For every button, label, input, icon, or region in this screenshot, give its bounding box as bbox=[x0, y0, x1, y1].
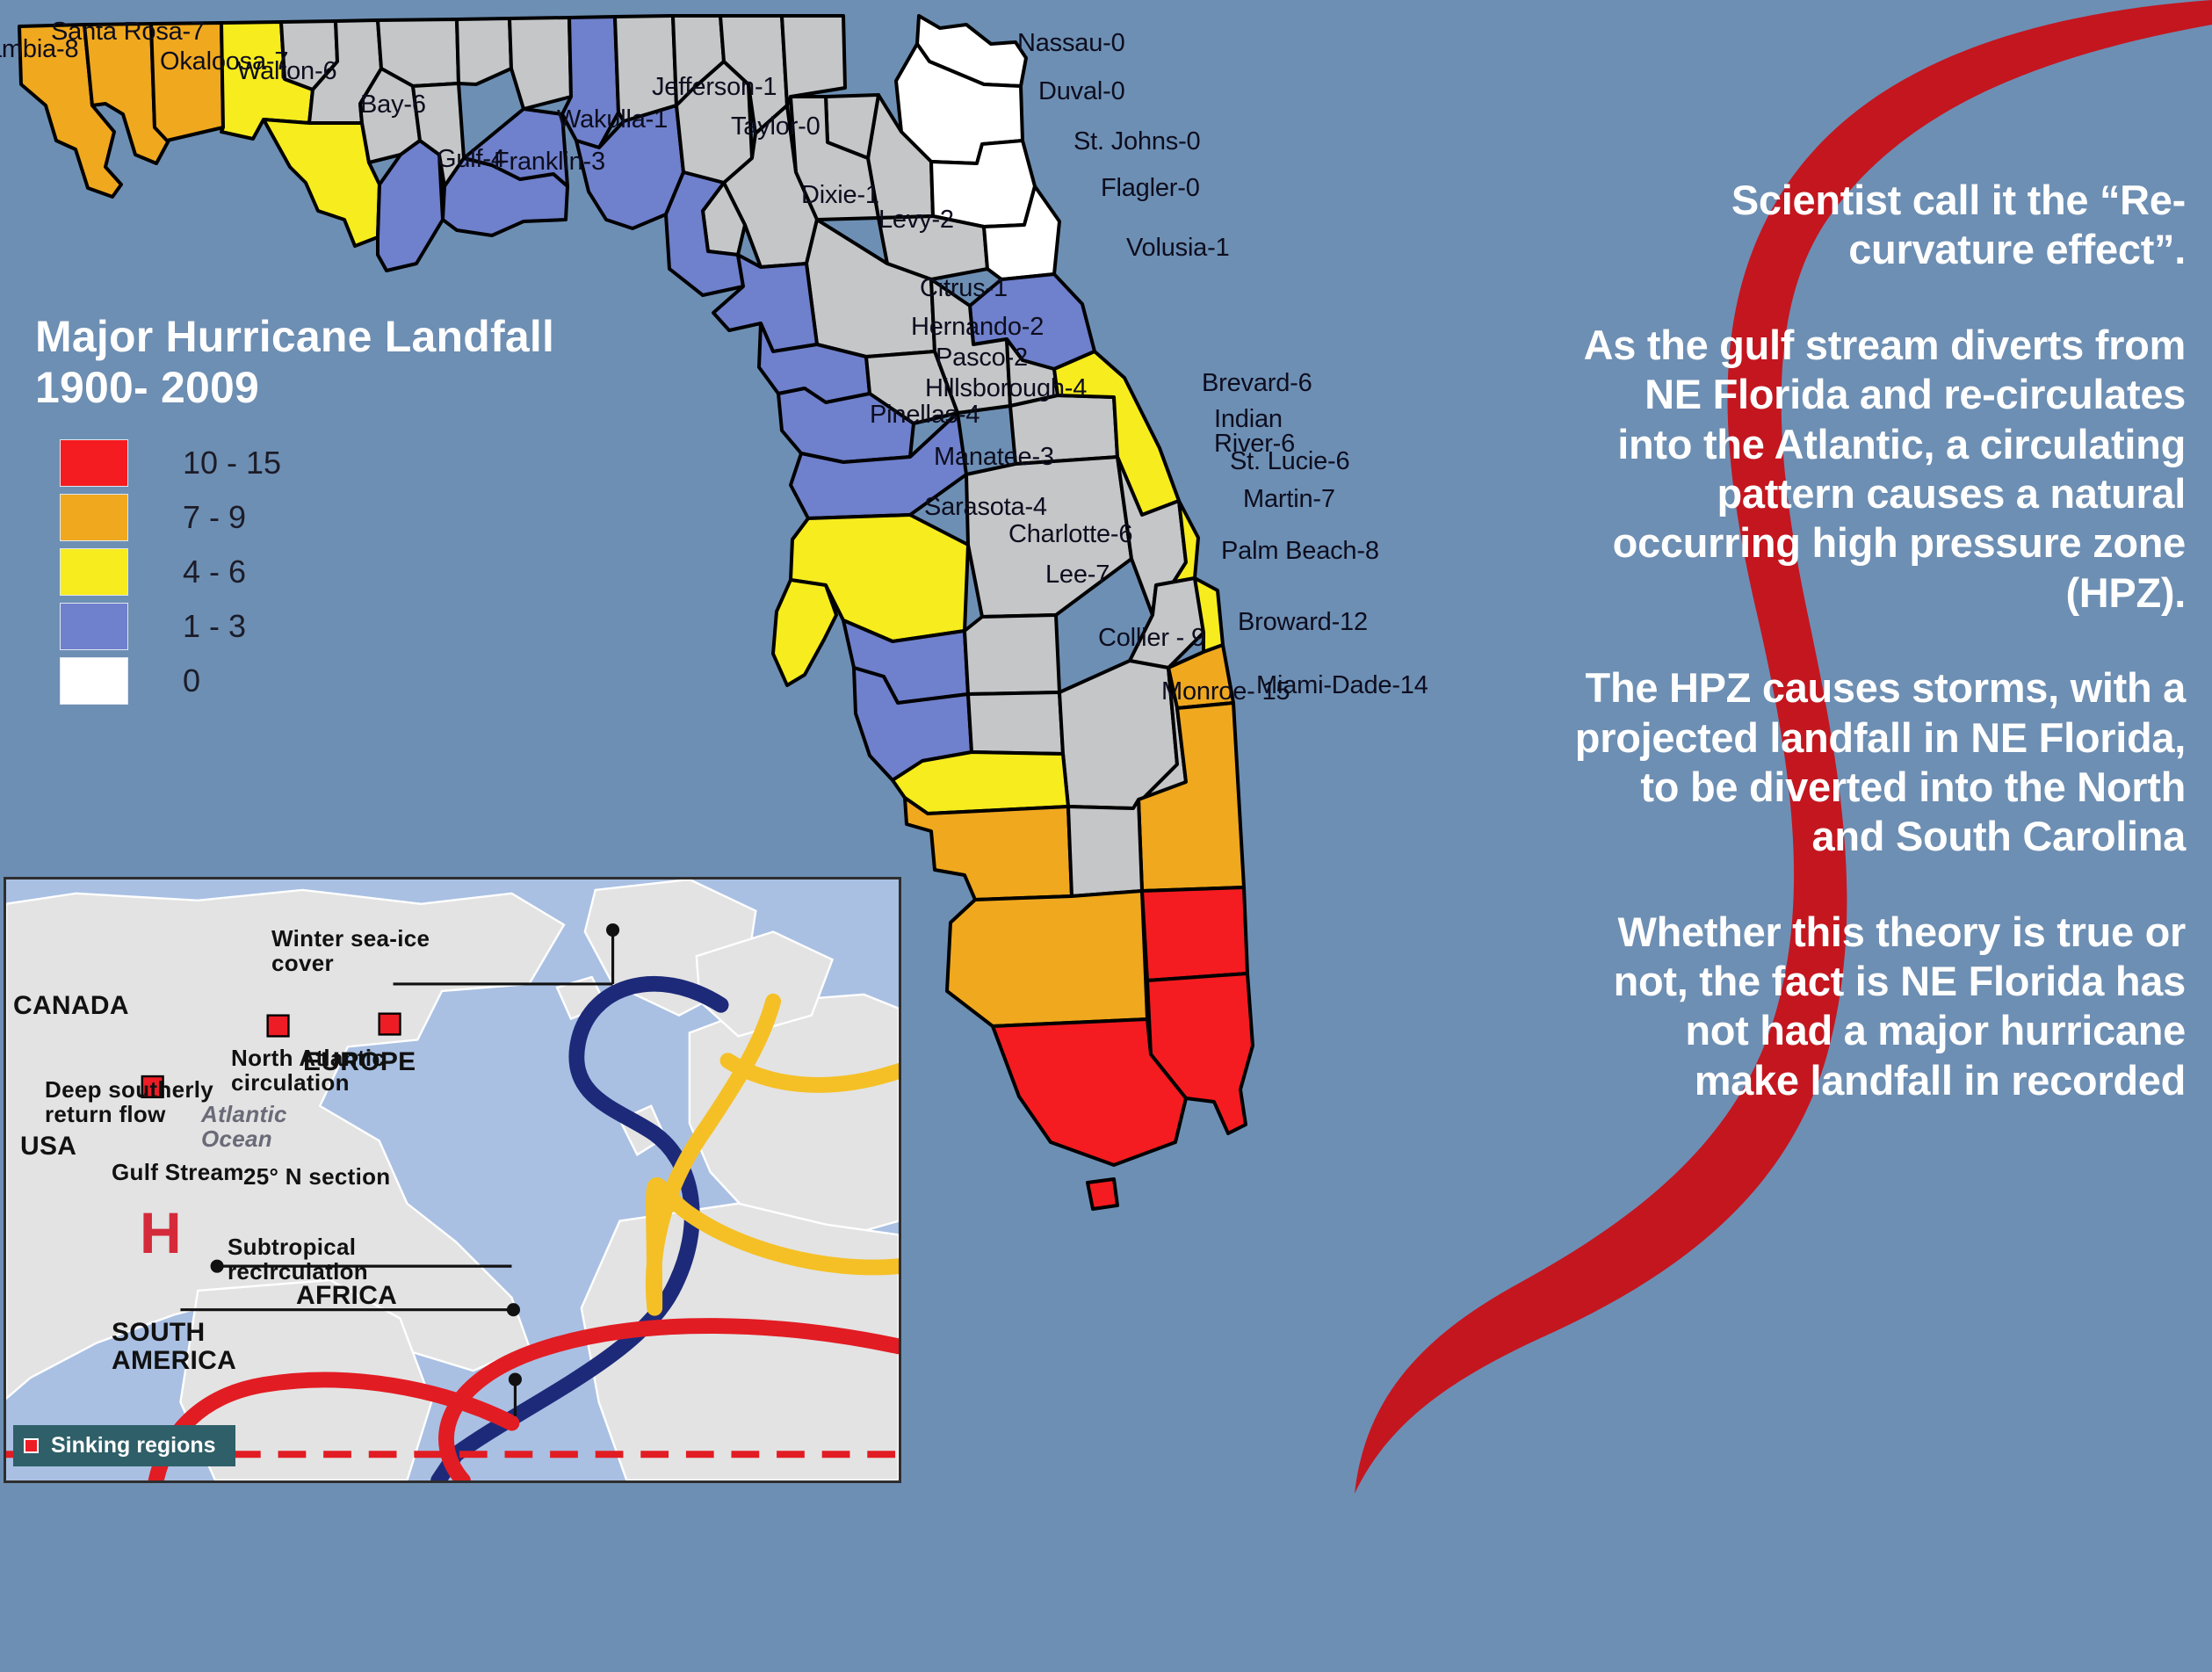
north-atlantic-circulation-inset-map[interactable]: CANADAUSADeep southerly return flowGulf … bbox=[4, 877, 901, 1483]
legend-label-1: 7 - 9 bbox=[183, 499, 246, 536]
sinking-marker-3 bbox=[380, 1014, 401, 1035]
legend-title-line1: Major Hurricane Landfall bbox=[35, 312, 554, 363]
legend-row-4: 0 bbox=[60, 654, 554, 708]
map-legend: Major Hurricane Landfall 1900- 2009 10 -… bbox=[35, 312, 554, 708]
sinking-marker-2 bbox=[268, 1016, 289, 1037]
panel-paragraph-1: As the gulf stream diverts from NE Flori… bbox=[1571, 321, 2186, 618]
explanatory-text-panel: Scientist call it the “Re-curvature effe… bbox=[1571, 176, 2186, 1105]
sinking-marker-1 bbox=[142, 1076, 163, 1097]
legend-label-2: 4 - 6 bbox=[183, 554, 246, 590]
county-okaloosa[interactable] bbox=[151, 23, 223, 141]
legend-row-1: 7 - 9 bbox=[60, 490, 554, 545]
legend-label-4: 0 bbox=[183, 662, 200, 699]
county-bay[interactable] bbox=[264, 119, 380, 246]
legend-swatch-4 bbox=[60, 657, 128, 705]
legend-swatch-1 bbox=[60, 494, 128, 541]
panel-paragraph-0: Scientist call it the “Re-curvature effe… bbox=[1571, 176, 2186, 275]
county-jefferson[interactable] bbox=[562, 17, 618, 148]
legend-row-0: 10 - 15 bbox=[60, 436, 554, 490]
infographic-canvas: ambia-8Santa Rosa-7Okaloosa-7Walton-6Bay… bbox=[0, 0, 2212, 1672]
legend-row-2: 4 - 6 bbox=[60, 545, 554, 599]
legend-title-line2: 1900- 2009 bbox=[35, 363, 554, 414]
panel-paragraph-2: The HPZ causes storms, with a projected … bbox=[1571, 663, 2186, 862]
county-baker[interactable] bbox=[782, 16, 845, 105]
legend-row-3: 1 - 3 bbox=[60, 599, 554, 654]
sinking-regions-label: Sinking regions bbox=[51, 1433, 216, 1458]
county-gulf[interactable] bbox=[378, 141, 443, 271]
sinking-regions-legend: Sinking regions bbox=[13, 1425, 235, 1466]
legend-label-0: 10 - 15 bbox=[183, 445, 281, 481]
inset-map-svg bbox=[6, 879, 899, 1480]
legend-swatch-0 bbox=[60, 439, 128, 487]
legend-title: Major Hurricane Landfall 1900- 2009 bbox=[35, 312, 554, 413]
panel-paragraph-3: Whether this theory is true or not, the … bbox=[1571, 908, 2186, 1106]
legend-rows: 10 - 157 - 94 - 61 - 30 bbox=[60, 436, 554, 708]
legend-label-3: 1 - 3 bbox=[183, 608, 246, 645]
county-madison[interactable] bbox=[615, 16, 676, 121]
legend-swatch-2 bbox=[60, 548, 128, 596]
legend-swatch-3 bbox=[60, 603, 128, 650]
county-leon[interactable] bbox=[510, 18, 571, 109]
county-gadsden[interactable] bbox=[457, 18, 511, 84]
county-pinellas[interactable] bbox=[773, 580, 836, 685]
sinking-regions-swatch bbox=[24, 1438, 39, 1453]
